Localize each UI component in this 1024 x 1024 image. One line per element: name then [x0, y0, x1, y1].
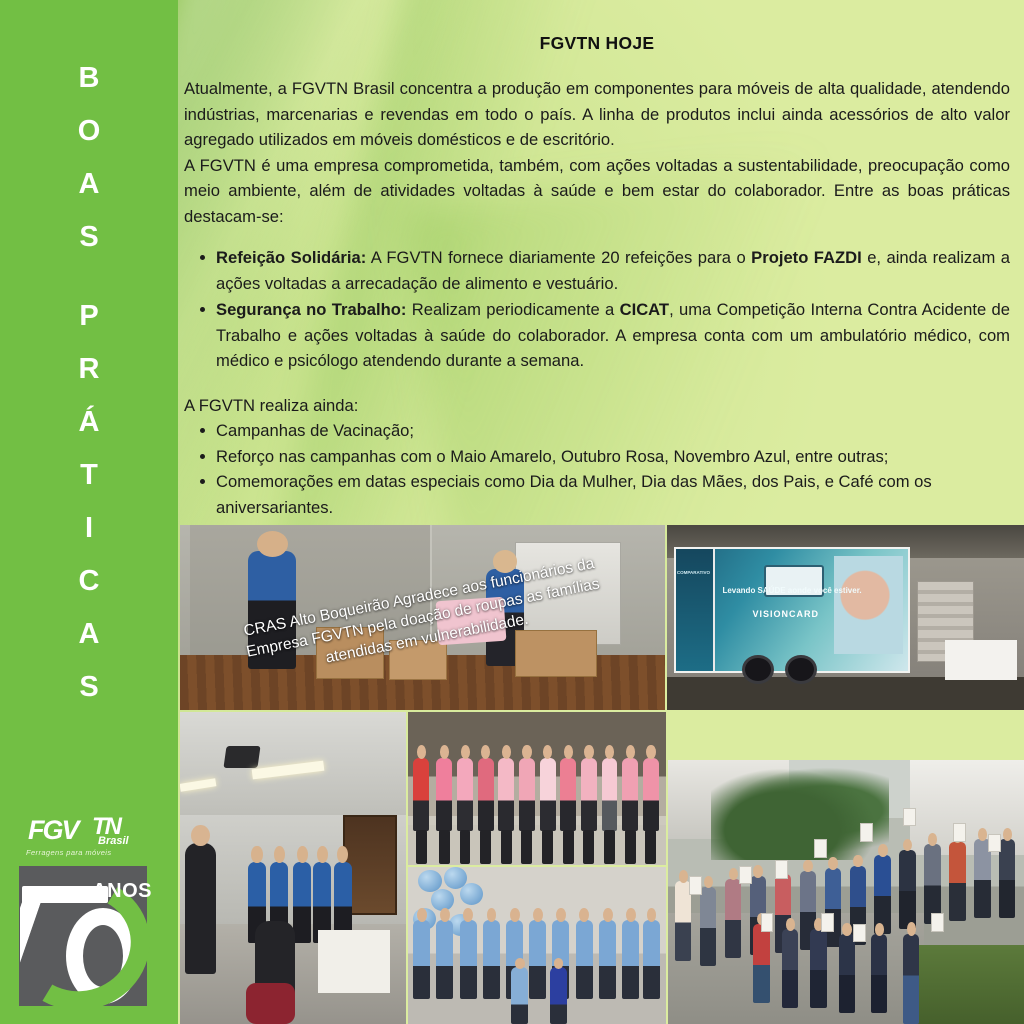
photo-health-trailer: COMPARATIVO Levando SAÚDE aonde você est… — [667, 525, 1024, 710]
photo-person — [725, 879, 741, 958]
photo-person — [810, 929, 826, 1008]
photo-trailer-side-text: COMPARATIVO — [677, 569, 682, 576]
badge-anos-label: ANOS — [92, 880, 152, 903]
list-item: Comemorações em datas especiais como Dia… — [216, 469, 1010, 520]
photo-held-card — [853, 924, 866, 942]
photo-person — [185, 843, 217, 974]
photo-person — [293, 862, 311, 943]
bullet-text-a: Realizam periodicamente a — [406, 300, 619, 319]
photo-trailer-graphic — [834, 556, 903, 653]
photo-trailer-brand: VISIONCARD — [753, 609, 820, 619]
photo-wall-panel — [190, 525, 433, 658]
photo-desk — [318, 930, 390, 992]
sidebar-letter: C — [0, 555, 178, 608]
photo-balloon — [460, 883, 483, 905]
photo-person — [782, 929, 798, 1008]
list-item: Segurança no Trabalho: Realizam periodic… — [216, 297, 1010, 374]
photo-trailer-wheel — [785, 655, 817, 685]
photo-person-front — [511, 967, 528, 1024]
photo-person — [540, 758, 556, 831]
photo-person — [581, 758, 597, 831]
photo-person — [436, 920, 453, 999]
photo-person — [949, 842, 965, 921]
photo-held-card — [988, 834, 1001, 852]
photo-person — [498, 758, 514, 831]
photo-novembro-azul-group — [408, 867, 666, 1024]
sidebar-letter: O — [0, 105, 178, 158]
photo-vaccination-campaign — [180, 712, 406, 1024]
photo-person — [248, 551, 297, 669]
photo-ground — [667, 677, 1024, 710]
photo-trailer-wheel — [742, 655, 774, 685]
photo-person — [478, 758, 494, 831]
photo-donation-box — [515, 630, 597, 676]
photo-donation-box — [316, 627, 384, 679]
paragraph-commitment: A FGVTN é uma empresa comprometida, tamb… — [182, 153, 1012, 230]
sidebar-letter: P — [0, 290, 178, 343]
photo-held-card — [775, 860, 788, 878]
list-item: Refeição Solidária: A FGVTN fornece diar… — [216, 245, 1010, 296]
logo-brasil-text: Brasil — [98, 836, 129, 847]
photo-cras-donation: CRAS Alto Boqueirão Agradece aos funcion… — [180, 525, 665, 710]
photo-person — [457, 758, 473, 831]
photo-held-card — [931, 913, 944, 931]
company-logo: FGV TN Brasil Ferragens para móveis ANOS — [14, 816, 164, 1012]
photo-held-card — [739, 866, 752, 884]
photo-person — [622, 758, 638, 831]
bullet-highlight: CICAT — [620, 300, 669, 319]
photo-person — [643, 920, 660, 999]
left-sidebar: B O A S P R Á T I C A S FGV TN Brasil Fe… — [0, 0, 178, 1024]
photo-person — [413, 758, 429, 831]
photo-person — [576, 920, 593, 999]
photo-person — [753, 924, 769, 1003]
photo-projector — [224, 746, 261, 768]
photo-person — [924, 844, 940, 923]
photo-held-card — [903, 808, 916, 826]
photo-held-card — [689, 876, 702, 894]
sidebar-letter: T — [0, 449, 178, 502]
photo-person — [999, 839, 1015, 918]
photo-person — [602, 758, 618, 831]
photo-trailer-slogan: Levando SAÚDE aonde você estiver. — [722, 586, 861, 596]
sidebar-letter: S — [0, 661, 178, 714]
paragraph-intro: Atualmente, a FGVTN Brasil concentra a p… — [182, 76, 1012, 153]
photo-person — [871, 934, 887, 1013]
photo-held-card — [860, 823, 873, 841]
photo-person — [483, 920, 500, 999]
bullet-text-a: A FGVTN fornece diariamente 20 refeições… — [366, 248, 751, 267]
photo-trees — [711, 760, 889, 860]
photo-grass — [917, 945, 1024, 1024]
best-practices-list: Refeição Solidária: A FGVTN fornece diar… — [182, 245, 1012, 374]
paragraph-realiza-intro: A FGVTN realiza ainda: — [182, 393, 1012, 419]
photo-person — [700, 887, 716, 966]
photo-person — [899, 850, 915, 929]
photo-held-card — [953, 823, 966, 841]
bullet-lead-label: Refeição Solidária: — [216, 248, 366, 267]
photo-person — [825, 868, 841, 947]
photo-donation-box — [389, 640, 447, 681]
photo-person — [839, 934, 855, 1013]
photo-clothing — [436, 597, 507, 646]
sidebar-letter: R — [0, 343, 178, 396]
photo-chair — [246, 983, 296, 1024]
bullet-lead-label: Segurança no Trabalho: — [216, 300, 406, 319]
logo-fgv-text: FGV — [28, 816, 78, 844]
photo-person — [903, 934, 919, 1024]
activities-list: Campanhas de Vacinação; Reforço nas camp… — [182, 418, 1012, 520]
sidebar-vertical-title: B O A S P R Á T I C A S — [0, 52, 178, 714]
photo-person — [622, 920, 639, 999]
logo-wordmark: FGV TN Brasil Ferragens para móveis — [14, 816, 164, 860]
photo-person — [436, 758, 452, 831]
photo-person-front — [550, 967, 567, 1024]
bullet-highlight: Projeto FAZDI — [751, 248, 862, 267]
photo-person — [460, 920, 477, 999]
photo-trailer-door: COMPARATIVO — [676, 549, 715, 671]
sidebar-letter: S — [0, 211, 178, 264]
photo-held-card — [814, 839, 827, 857]
photo-held-card — [821, 913, 834, 931]
photo-collage: CRAS Alto Boqueirão Agradece aos funcion… — [180, 525, 1024, 1024]
photo-trailer-body: COMPARATIVO Levando SAÚDE aonde você est… — [674, 547, 910, 673]
photo-outubro-rosa-group — [408, 712, 666, 865]
logo-tagline-text: Ferragens para móveis — [26, 848, 112, 857]
sidebar-letter: A — [0, 158, 178, 211]
photo-womens-day-group — [668, 760, 1024, 1024]
sidebar-letter: A — [0, 608, 178, 661]
photo-person — [599, 920, 616, 999]
sidebar-letter-gap — [0, 264, 178, 290]
photo-table — [945, 640, 1016, 681]
poster-page: B O A S P R Á T I C A S FGV TN Brasil Fe… — [0, 0, 1024, 1024]
anniversary-badge: ANOS — [14, 862, 154, 1012]
photo-person — [643, 758, 659, 831]
photo-person — [560, 758, 576, 831]
photo-held-card — [761, 913, 774, 931]
photo-person — [519, 758, 535, 831]
page-title: FGVTN HOJE — [182, 33, 1012, 54]
photo-person — [874, 855, 890, 934]
list-item: Reforço nas campanhas com o Maio Amarelo… — [216, 444, 1010, 470]
photo-person — [413, 920, 430, 999]
sidebar-letter: B — [0, 52, 178, 105]
sidebar-letter: I — [0, 502, 178, 555]
sidebar-letter: Á — [0, 396, 178, 449]
photo-person — [529, 920, 546, 999]
text-block: FGVTN HOJE Atualmente, a FGVTN Brasil co… — [178, 0, 1024, 520]
list-item: Campanhas de Vacinação; — [216, 418, 1010, 444]
